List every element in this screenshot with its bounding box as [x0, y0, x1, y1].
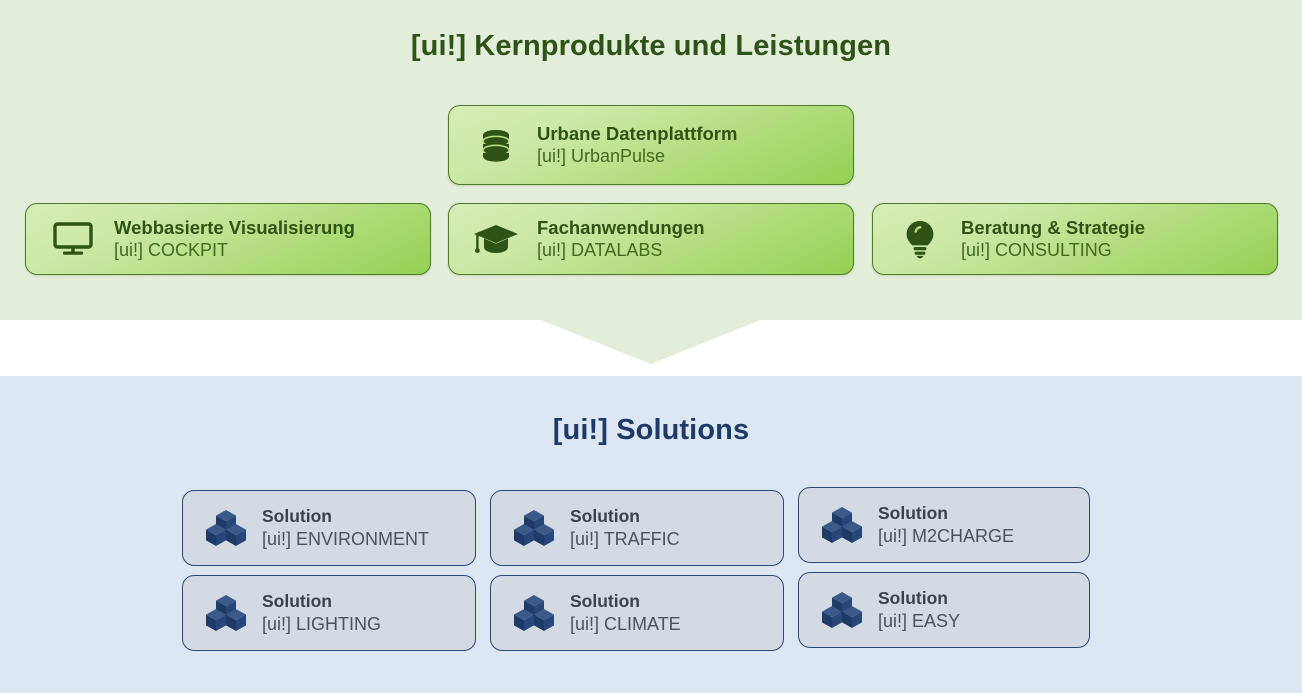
down-arrow-chevron-icon — [0, 320, 1302, 366]
cubes-icon — [201, 507, 251, 549]
solution-card-m2charge[interactable]: Solution [ui!] M2CHARGE — [798, 487, 1090, 563]
product-card-cockpit[interactable]: Webbasierte Visualisierung [ui!] COCKPIT — [25, 203, 431, 275]
solution-card-heading: Solution — [878, 587, 960, 610]
solution-card-heading: Solution — [878, 502, 1014, 525]
monitor-icon — [46, 217, 100, 261]
cubes-icon — [817, 589, 867, 631]
graduation-cap-icon — [469, 217, 523, 261]
products-section: [ui!] Kernprodukte und Leistungen — [0, 0, 1302, 320]
solution-card-subheading: [ui!] LIGHTING — [262, 613, 381, 636]
diagram-canvas: [ui!] Kernprodukte und Leistungen — [0, 0, 1302, 693]
cubes-icon — [817, 504, 867, 546]
solution-card-climate[interactable]: Solution [ui!] CLIMATE — [490, 575, 784, 651]
cubes-icon — [201, 592, 251, 634]
solution-card-heading: Solution — [570, 590, 681, 613]
solution-card-heading: Solution — [262, 505, 429, 528]
product-card-consulting[interactable]: Beratung & Strategie [ui!] CONSULTING — [872, 203, 1278, 275]
solutions-section-title: [ui!] Solutions — [0, 414, 1302, 447]
solution-card-heading: Solution — [262, 590, 381, 613]
database-icon — [469, 123, 523, 167]
product-card-heading: Fachanwendungen — [537, 216, 705, 240]
product-card-heading: Urbane Datenplattform — [537, 122, 737, 146]
solution-card-subheading: [ui!] M2CHARGE — [878, 525, 1014, 548]
solution-card-heading: Solution — [570, 505, 680, 528]
solution-card-lighting[interactable]: Solution [ui!] LIGHTING — [182, 575, 476, 651]
products-section-title: [ui!] Kernprodukte und Leistungen — [0, 30, 1302, 63]
section-connector — [0, 320, 1302, 366]
product-card-subheading: [ui!] UrbanPulse — [537, 145, 737, 168]
lightbulb-icon — [893, 217, 947, 261]
product-card-datalabs[interactable]: Fachanwendungen [ui!] DATALABS — [448, 203, 854, 275]
solution-card-subheading: [ui!] EASY — [878, 610, 960, 633]
solution-card-subheading: [ui!] TRAFFIC — [570, 528, 680, 551]
solutions-section: [ui!] Solutions — [0, 376, 1302, 693]
solution-card-traffic[interactable]: Solution [ui!] TRAFFIC — [490, 490, 784, 566]
solution-card-subheading: [ui!] CLIMATE — [570, 613, 681, 636]
product-card-subheading: [ui!] COCKPIT — [114, 239, 355, 262]
solution-card-subheading: [ui!] ENVIRONMENT — [262, 528, 429, 551]
solution-card-easy[interactable]: Solution [ui!] EASY — [798, 572, 1090, 648]
product-card-heading: Beratung & Strategie — [961, 216, 1145, 240]
product-card-subheading: [ui!] CONSULTING — [961, 239, 1145, 262]
cubes-icon — [509, 592, 559, 634]
product-card-urbanpulse[interactable]: Urbane Datenplattform [ui!] UrbanPulse — [448, 105, 854, 185]
solution-card-environment[interactable]: Solution [ui!] ENVIRONMENT — [182, 490, 476, 566]
cubes-icon — [509, 507, 559, 549]
product-card-heading: Webbasierte Visualisierung — [114, 216, 355, 240]
product-card-subheading: [ui!] DATALABS — [537, 239, 705, 262]
